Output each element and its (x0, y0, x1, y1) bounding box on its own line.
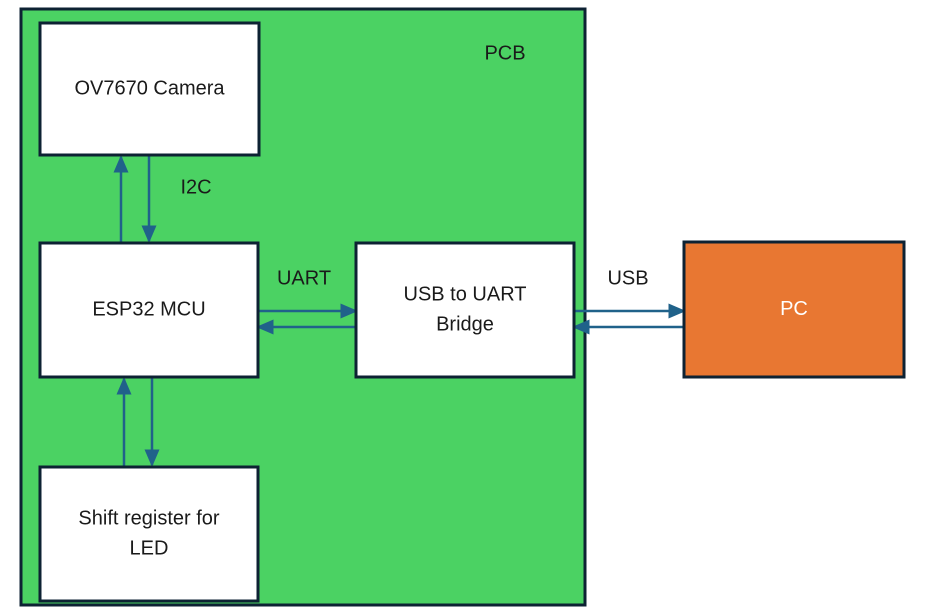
edge-label-uart: UART (277, 267, 331, 289)
block-pc-label: PC (780, 298, 808, 320)
diagram-canvas: PCB OV7670 CameraESP32 MCUUSB to UARTBri… (0, 0, 945, 612)
block-bridge-label: USB to UART (404, 283, 527, 305)
block-pc[interactable]: PC (684, 242, 904, 377)
block-camera[interactable]: OV7670 Camera (40, 23, 259, 155)
block-shiftreg-label: Shift register for (78, 507, 220, 529)
block-mcu-label: ESP32 MCU (92, 298, 205, 320)
block-shiftreg-label: LED (130, 537, 169, 559)
block-camera-label: OV7670 Camera (74, 77, 225, 99)
block-bridge-label: Bridge (436, 313, 494, 335)
block-mcu[interactable]: ESP32 MCU (40, 243, 258, 377)
edge-label-i2c: I2C (180, 176, 211, 198)
pcb-label: PCB (484, 42, 525, 64)
block-bridge[interactable]: USB to UARTBridge (356, 243, 574, 377)
block-bridge-rect[interactable] (356, 243, 574, 377)
block-shiftreg-rect[interactable] (40, 467, 258, 601)
edge-label-usb: USB (607, 267, 648, 289)
block-shiftreg[interactable]: Shift register forLED (40, 467, 258, 601)
block-diagram: PCB OV7670 CameraESP32 MCUUSB to UARTBri… (0, 0, 945, 612)
